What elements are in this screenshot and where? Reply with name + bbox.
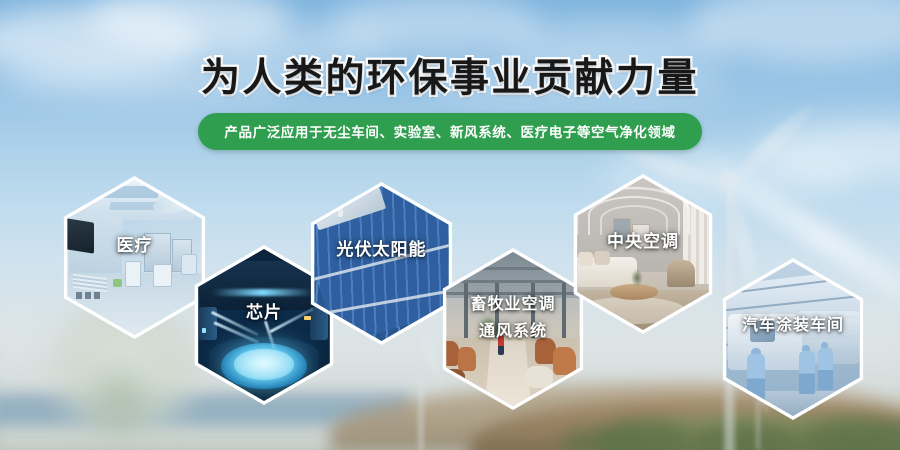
subtitle-badge: 产品广泛应用于无尘车间、实验室、新风系统、医疗电子等空气净化领域 [198, 113, 701, 150]
banner-root: 为人类的环保事业贡献力量 产品广泛应用于无尘车间、实验室、新风系统、医疗电子等空… [0, 0, 900, 450]
page-title: 为人类的环保事业贡献力量 [0, 58, 900, 101]
background-foliage [560, 430, 630, 450]
headline-block: 为人类的环保事业贡献力量 产品广泛应用于无尘车间、实验室、新风系统、医疗电子等空… [0, 58, 900, 150]
background-tree [75, 355, 165, 450]
